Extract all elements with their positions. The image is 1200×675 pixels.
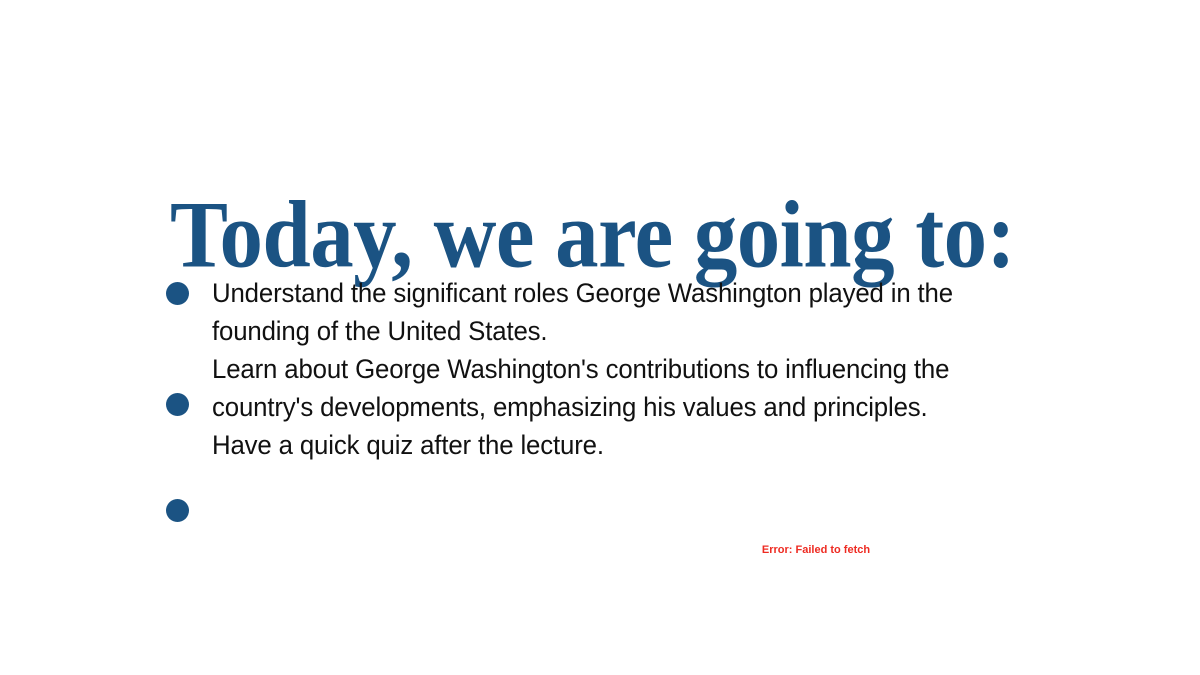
bullet-dot-icon [166,499,189,522]
slide-canvas: Today, we are going to: Understand the s… [0,0,1200,675]
error-message: Error: Failed to fetch [216,543,1200,557]
bullet-text-block: Understand the significant roles George … [212,274,1005,464]
list-item: Understand the significant roles George … [212,274,1005,350]
bullet-dot-icon [166,282,189,305]
list-item: Have a quick quiz after the lecture. [212,426,1005,464]
bullet-dot-icon [166,393,189,416]
page-title: Today, we are going to: [170,184,1124,286]
list-item: Learn about George Washington's contribu… [212,350,1005,426]
